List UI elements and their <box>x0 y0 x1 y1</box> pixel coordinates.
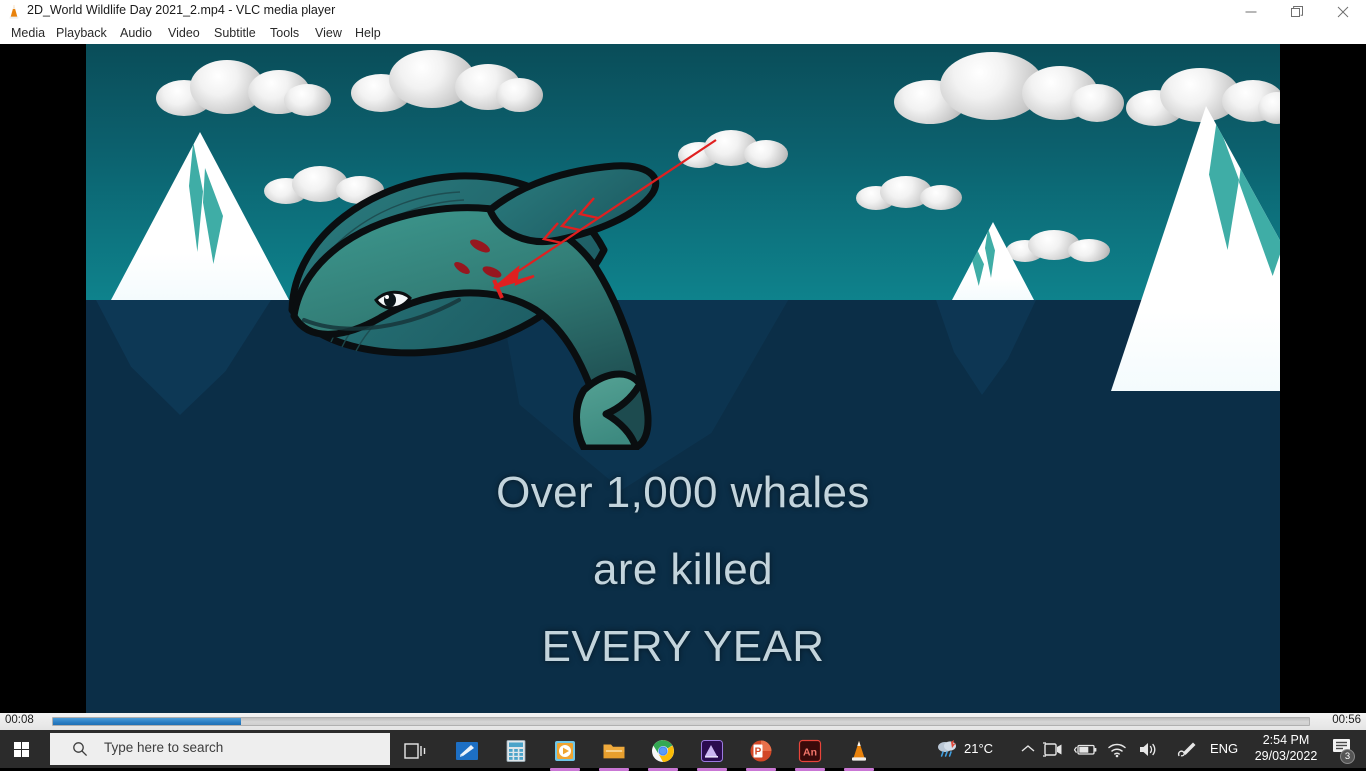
google-chrome-icon <box>651 739 675 763</box>
svg-text:P: P <box>755 747 762 758</box>
rain-cloud-icon <box>937 739 959 759</box>
vlc-control-bar: 00:08 00:56 <box>0 713 1366 730</box>
windows-logo-icon <box>14 742 29 757</box>
taskbar-app-powerpoint[interactable]: P <box>741 735 781 767</box>
camera-icon[interactable] <box>1042 741 1064 758</box>
menu-bar: Media Playback Audio Video Subtitle Tool… <box>0 23 1366 44</box>
vlc-cone-icon <box>6 4 22 20</box>
volume-icon[interactable] <box>1138 741 1160 758</box>
battery-icon[interactable] <box>1074 741 1096 758</box>
svg-text:An: An <box>803 747 817 759</box>
menu-tools[interactable]: Tools <box>263 23 306 44</box>
notification-center-button[interactable]: 3 <box>1324 730 1364 768</box>
video-output-area[interactable]: Over 1,000 whales are killed EVERY YEAR <box>0 44 1366 713</box>
subtitle-line-3: EVERY YEAR <box>86 608 1280 685</box>
taskbar-app-file-explorer[interactable] <box>594 735 634 767</box>
cloud <box>351 50 543 114</box>
close-button[interactable] <box>1320 0 1366 23</box>
subtitle-overlay: Over 1,000 whales are killed EVERY YEAR <box>86 454 1280 685</box>
title-bar[interactable]: 2D_World Wildlife Day 2021_2.mp4 - VLC m… <box>0 0 1366 23</box>
window-title: 2D_World Wildlife Day 2021_2.mp4 - VLC m… <box>27 3 335 17</box>
search-icon <box>72 741 88 757</box>
weather-temperature: 21°C <box>964 741 993 756</box>
notification-badge: 3 <box>1340 749 1355 764</box>
pen-menu-button[interactable] <box>1170 730 1204 768</box>
taskbar-app-calculator[interactable] <box>496 735 536 767</box>
vlc-cone-icon <box>847 739 871 763</box>
seek-bar-fill <box>53 718 241 725</box>
file-explorer-icon <box>602 739 626 763</box>
menu-view[interactable]: View <box>308 23 349 44</box>
powerpoint-icon: P <box>749 739 773 763</box>
chevron-up-icon <box>1021 744 1035 754</box>
start-button[interactable] <box>0 730 48 768</box>
taskbar-app-vlc-media-player[interactable] <box>839 735 879 767</box>
tray-icon-group <box>1042 730 1170 768</box>
menu-subtitle[interactable]: Subtitle <box>207 23 263 44</box>
system-tray: 21°C <box>932 730 1366 768</box>
language-indicator[interactable]: ENG <box>1204 730 1248 768</box>
taskbar-app-task-view[interactable] <box>395 735 435 767</box>
search-placeholder: Type here to search <box>104 740 223 755</box>
menu-audio[interactable]: Audio <box>113 23 159 44</box>
weather-widget[interactable]: 21°C <box>932 730 1012 768</box>
adobe-after-effects-icon <box>700 739 724 763</box>
taskbar-app-adobe-animate[interactable]: An <box>790 735 830 767</box>
subtitle-line-1: Over 1,000 whales <box>86 454 1280 531</box>
minimize-button[interactable] <box>1228 0 1274 23</box>
language-label: ENG <box>1210 741 1238 756</box>
cloud <box>894 52 1124 128</box>
clock-time: 2:54 PM <box>1248 733 1324 747</box>
subtitle-line-2: are killed <box>86 531 1280 608</box>
taskbar-app-movies-and-tv[interactable] <box>545 735 585 767</box>
seek-bar[interactable] <box>52 717 1310 726</box>
task-view-icon <box>403 739 427 763</box>
taskbar-app-google-chrome[interactable] <box>643 735 683 767</box>
cloud <box>156 58 331 118</box>
pen-icon <box>1176 740 1198 759</box>
video-frame: Over 1,000 whales are killed EVERY YEAR <box>86 44 1280 713</box>
menu-video[interactable]: Video <box>161 23 207 44</box>
restore-button[interactable] <box>1274 0 1320 23</box>
calculator-icon <box>504 739 528 763</box>
clock[interactable]: 2:54 PM 29/03/2022 <box>1248 730 1324 768</box>
show-hidden-icons-button[interactable] <box>1014 730 1042 768</box>
movies-and-tv-icon <box>553 739 577 763</box>
search-input[interactable]: Type here to search <box>50 733 390 765</box>
menu-media[interactable]: Media <box>4 23 52 44</box>
vlc-media-player-window: 2D_World Wildlife Day 2021_2.mp4 - VLC m… <box>0 0 1366 730</box>
cloud <box>1006 230 1110 262</box>
clock-date: 29/03/2022 <box>1248 749 1324 763</box>
menu-help[interactable]: Help <box>348 23 388 44</box>
menu-playback[interactable]: Playback <box>49 23 114 44</box>
windows-taskbar: Type here to search <box>0 730 1366 768</box>
taskbar-app-adobe-after-effects[interactable] <box>692 735 732 767</box>
elapsed-time[interactable]: 00:08 <box>5 714 34 726</box>
cloud <box>856 176 962 210</box>
taskbar-app-snip-and-sketch[interactable] <box>447 735 487 767</box>
snip-and-sketch-icon <box>455 739 479 763</box>
harpoon-line-icon <box>476 134 736 304</box>
adobe-animate-icon: An <box>798 739 822 763</box>
wifi-icon[interactable] <box>1106 741 1128 758</box>
total-time[interactable]: 00:56 <box>1332 714 1361 726</box>
